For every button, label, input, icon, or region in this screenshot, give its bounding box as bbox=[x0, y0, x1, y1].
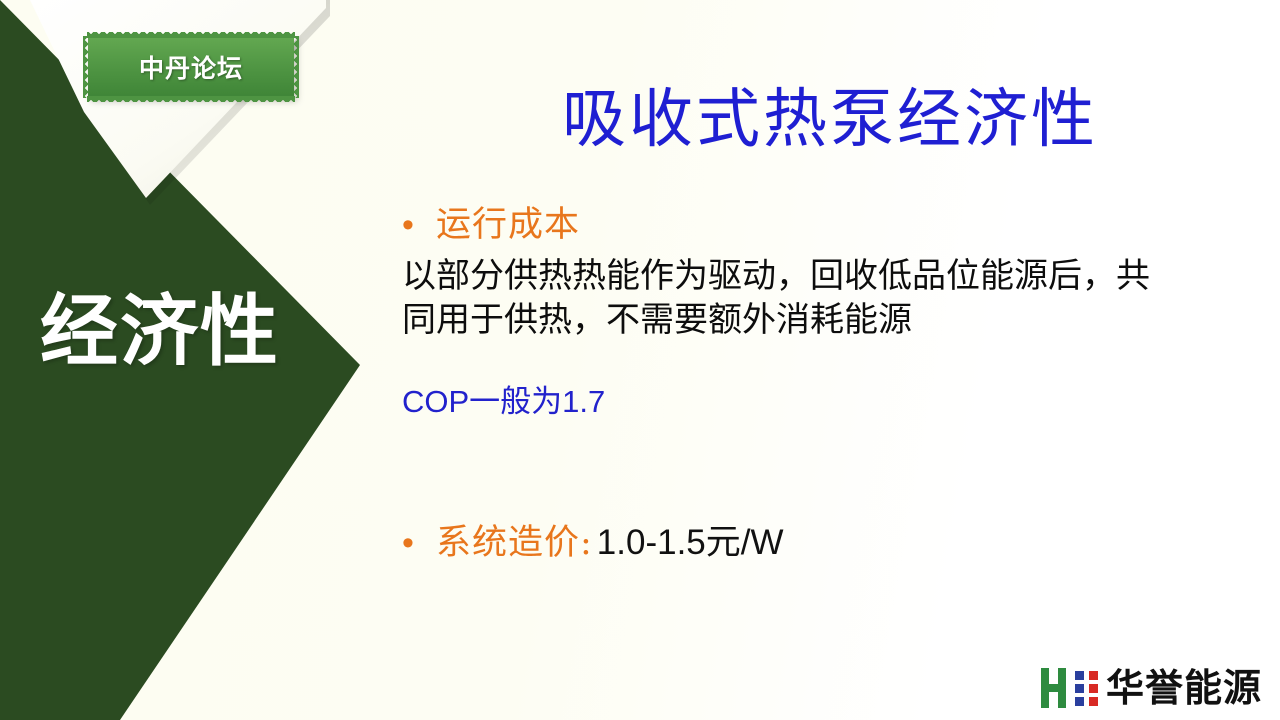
company-logo: 华誉能源 bbox=[1039, 668, 1262, 708]
bullet-item-system-cost: • 系统造价: 1.0-1.5元/W bbox=[402, 514, 1202, 565]
forum-ribbon-tag: 中丹论坛 bbox=[88, 37, 294, 97]
system-cost-value: 1.0-1.5元/W bbox=[593, 514, 784, 565]
logo-company-name: 华誉能源 bbox=[1106, 669, 1262, 707]
slide-body: • 运行成本 以部分供热热能作为驱动，回收低品位能源后，共同用于供热，不需要额外… bbox=[402, 196, 1202, 565]
bullet-dot-icon: • bbox=[402, 526, 436, 560]
bullet-dot-icon: • bbox=[402, 208, 436, 242]
cop-value-note: COP一般为1.7 bbox=[402, 376, 1202, 421]
bullet-heading-system-cost: 系统造价: bbox=[436, 514, 593, 565]
ribbon-label: 中丹论坛 bbox=[88, 37, 294, 97]
slide-title: 吸收式热泵经济性 bbox=[400, 85, 1260, 155]
logo-h-mark-icon bbox=[1039, 668, 1069, 708]
slide-canvas: 经济性 中丹论坛 吸收式热泵经济性 • 运行成本 以部分供热热能作为驱动，回收低… bbox=[0, 0, 1280, 720]
content-spacer bbox=[402, 452, 1202, 514]
operating-cost-paragraph: 以部分供热热能作为驱动，回收低品位能源后，共同用于供热，不需要额外消耗能源 bbox=[402, 255, 1162, 342]
bullet-item-operating-cost: • 运行成本 bbox=[402, 196, 1202, 247]
logo-dot-grid-icon bbox=[1075, 671, 1098, 706]
bullet-heading-operating-cost: 运行成本 bbox=[436, 196, 580, 247]
section-arrow-label: 经济性 bbox=[0, 292, 320, 374]
